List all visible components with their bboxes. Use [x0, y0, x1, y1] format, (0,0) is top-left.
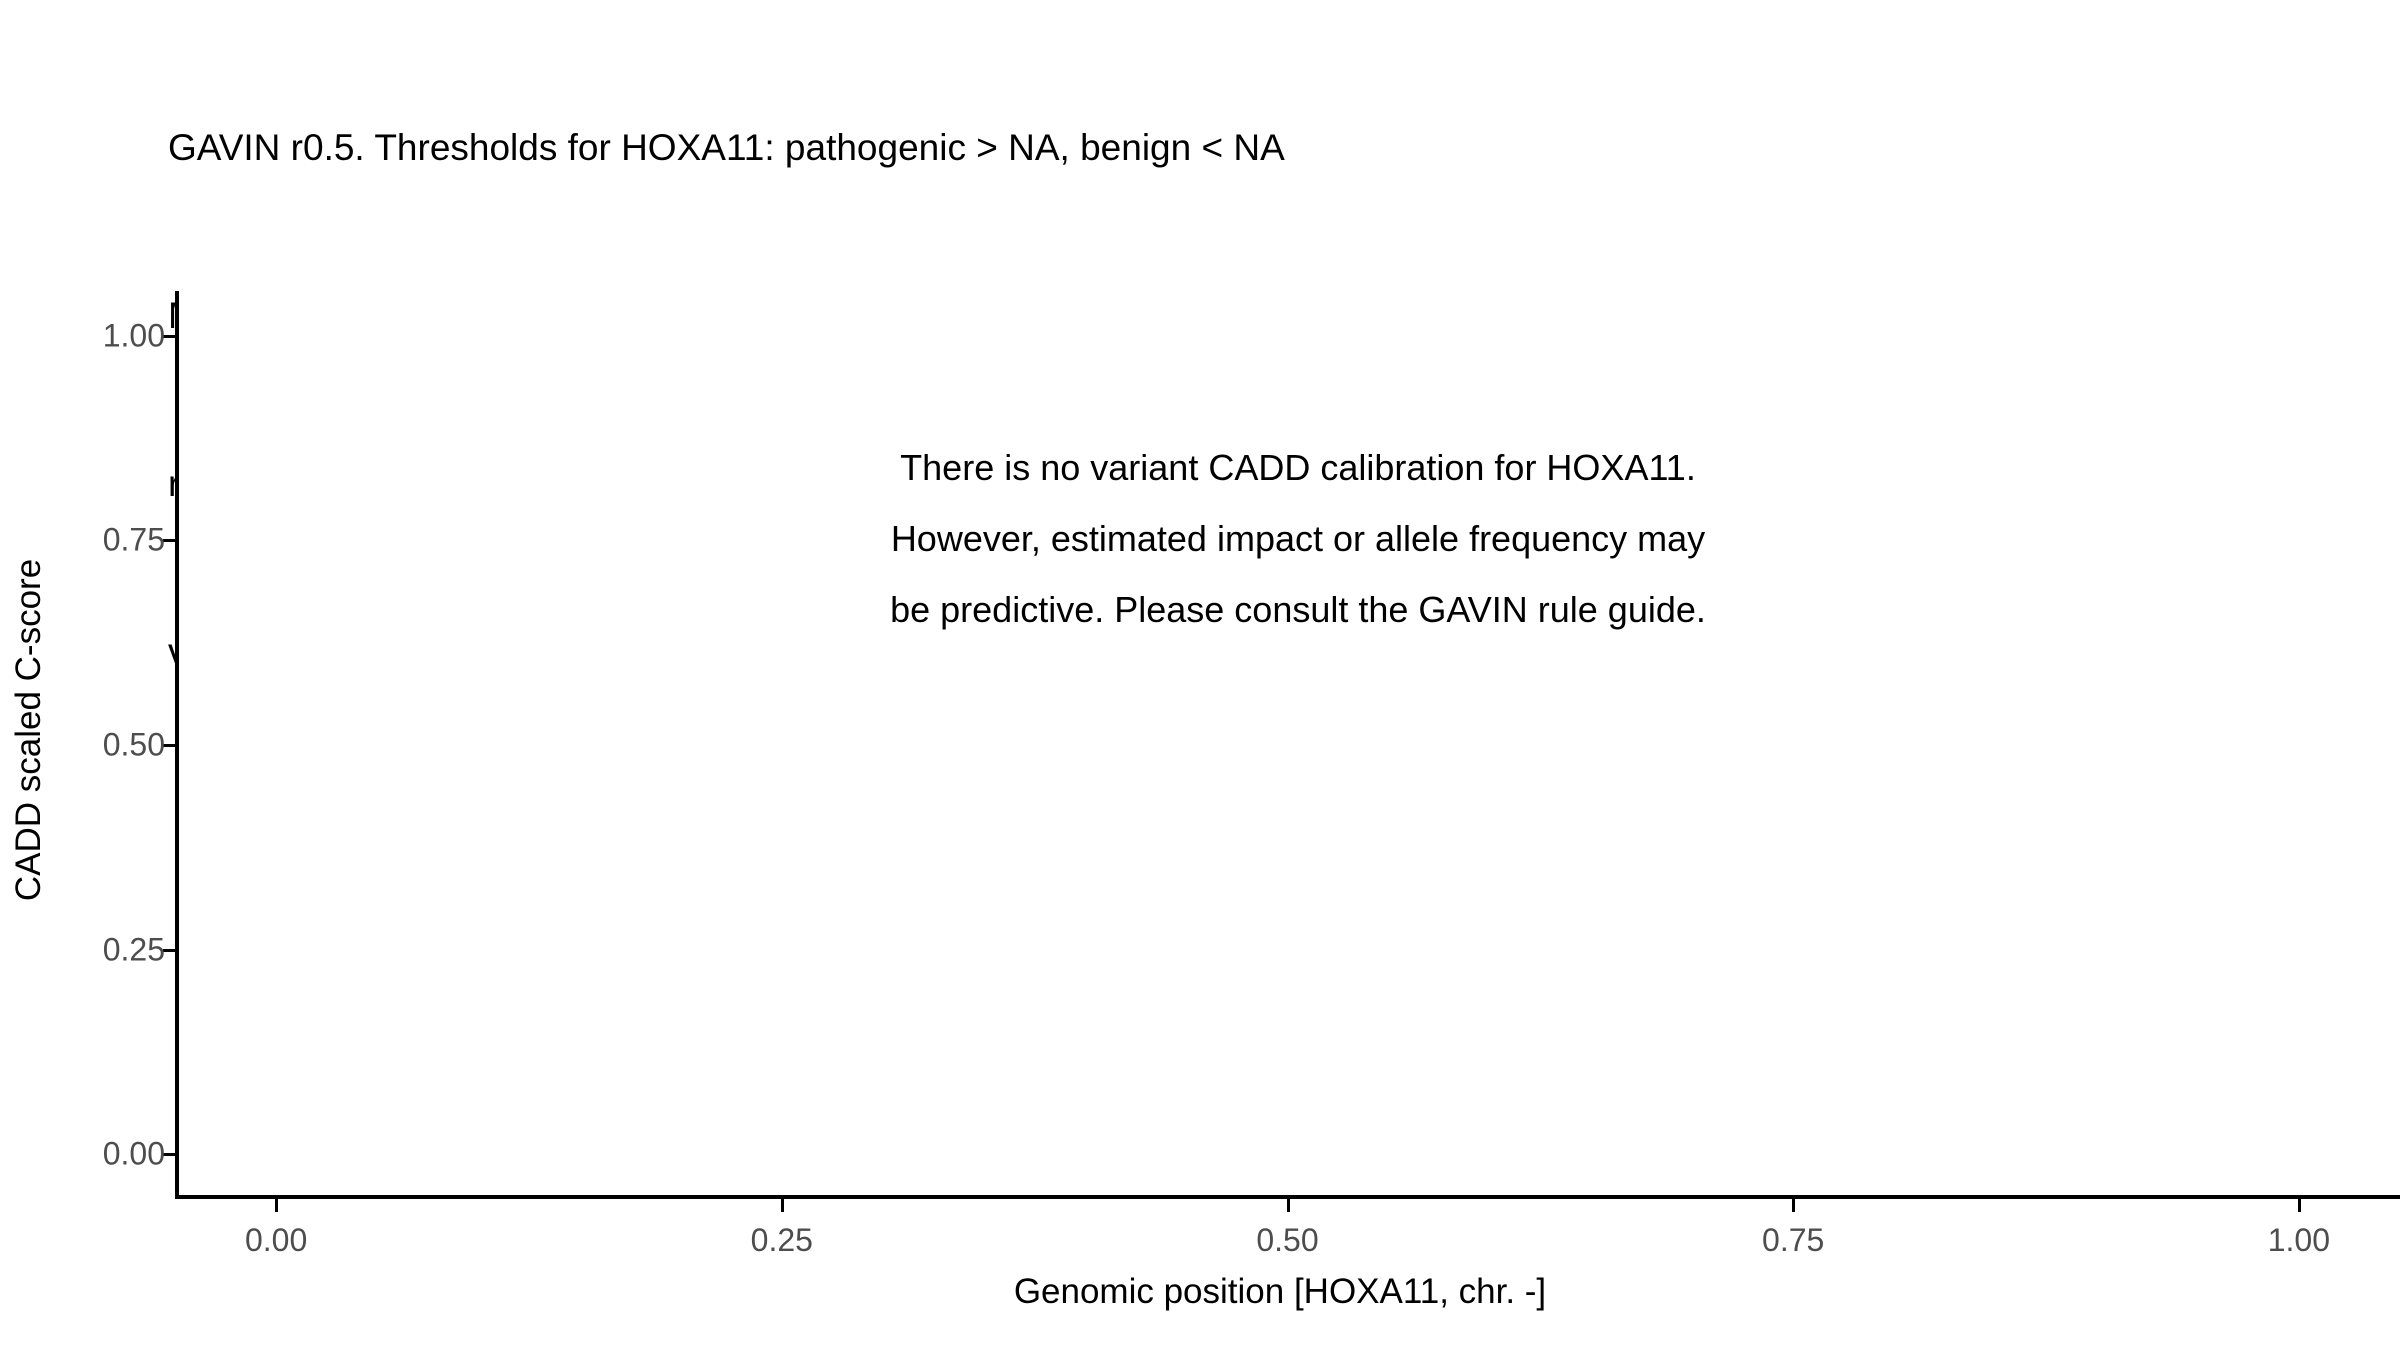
y-tick-label: 0.00 — [0, 1136, 165, 1173]
y-axis-line — [175, 291, 179, 1199]
plot-canvas: GAVIN r0.5. Thresholds for HOXA11: patho… — [0, 0, 2400, 1350]
x-tick-label: 0.25 — [682, 1222, 882, 1259]
annotation-line-1: There is no variant CADD calibration for… — [748, 432, 1848, 503]
x-tick-mark — [275, 1199, 278, 1212]
x-tick-mark — [781, 1199, 784, 1212]
plot-panel — [175, 295, 2400, 1195]
annotation-line-3: be predictive. Please consult the GAVIN … — [748, 574, 1848, 645]
chart-title-line-1: GAVIN r0.5. Thresholds for HOXA11: patho… — [168, 120, 2168, 176]
x-axis-title: Genomic position [HOXA11, chr. -] — [170, 1272, 2390, 1312]
x-tick-label: 0.50 — [1188, 1222, 1388, 1259]
annotation-line-2: However, estimated impact or allele freq… — [748, 503, 1848, 574]
x-tick-label: 0.00 — [176, 1222, 376, 1259]
y-tick-label: 0.50 — [0, 727, 165, 764]
x-tick-label: 1.00 — [2199, 1222, 2399, 1259]
y-tick-label: 0.75 — [0, 522, 165, 559]
x-tick-mark — [1792, 1199, 1795, 1212]
x-tick-mark — [2298, 1199, 2301, 1212]
no-calibration-annotation: There is no variant CADD calibration for… — [748, 432, 1848, 645]
x-tick-mark — [1287, 1199, 1290, 1212]
x-tick-label: 0.75 — [1693, 1222, 1893, 1259]
y-tick-label: 1.00 — [0, 317, 165, 354]
y-tick-label: 0.25 — [0, 931, 165, 968]
